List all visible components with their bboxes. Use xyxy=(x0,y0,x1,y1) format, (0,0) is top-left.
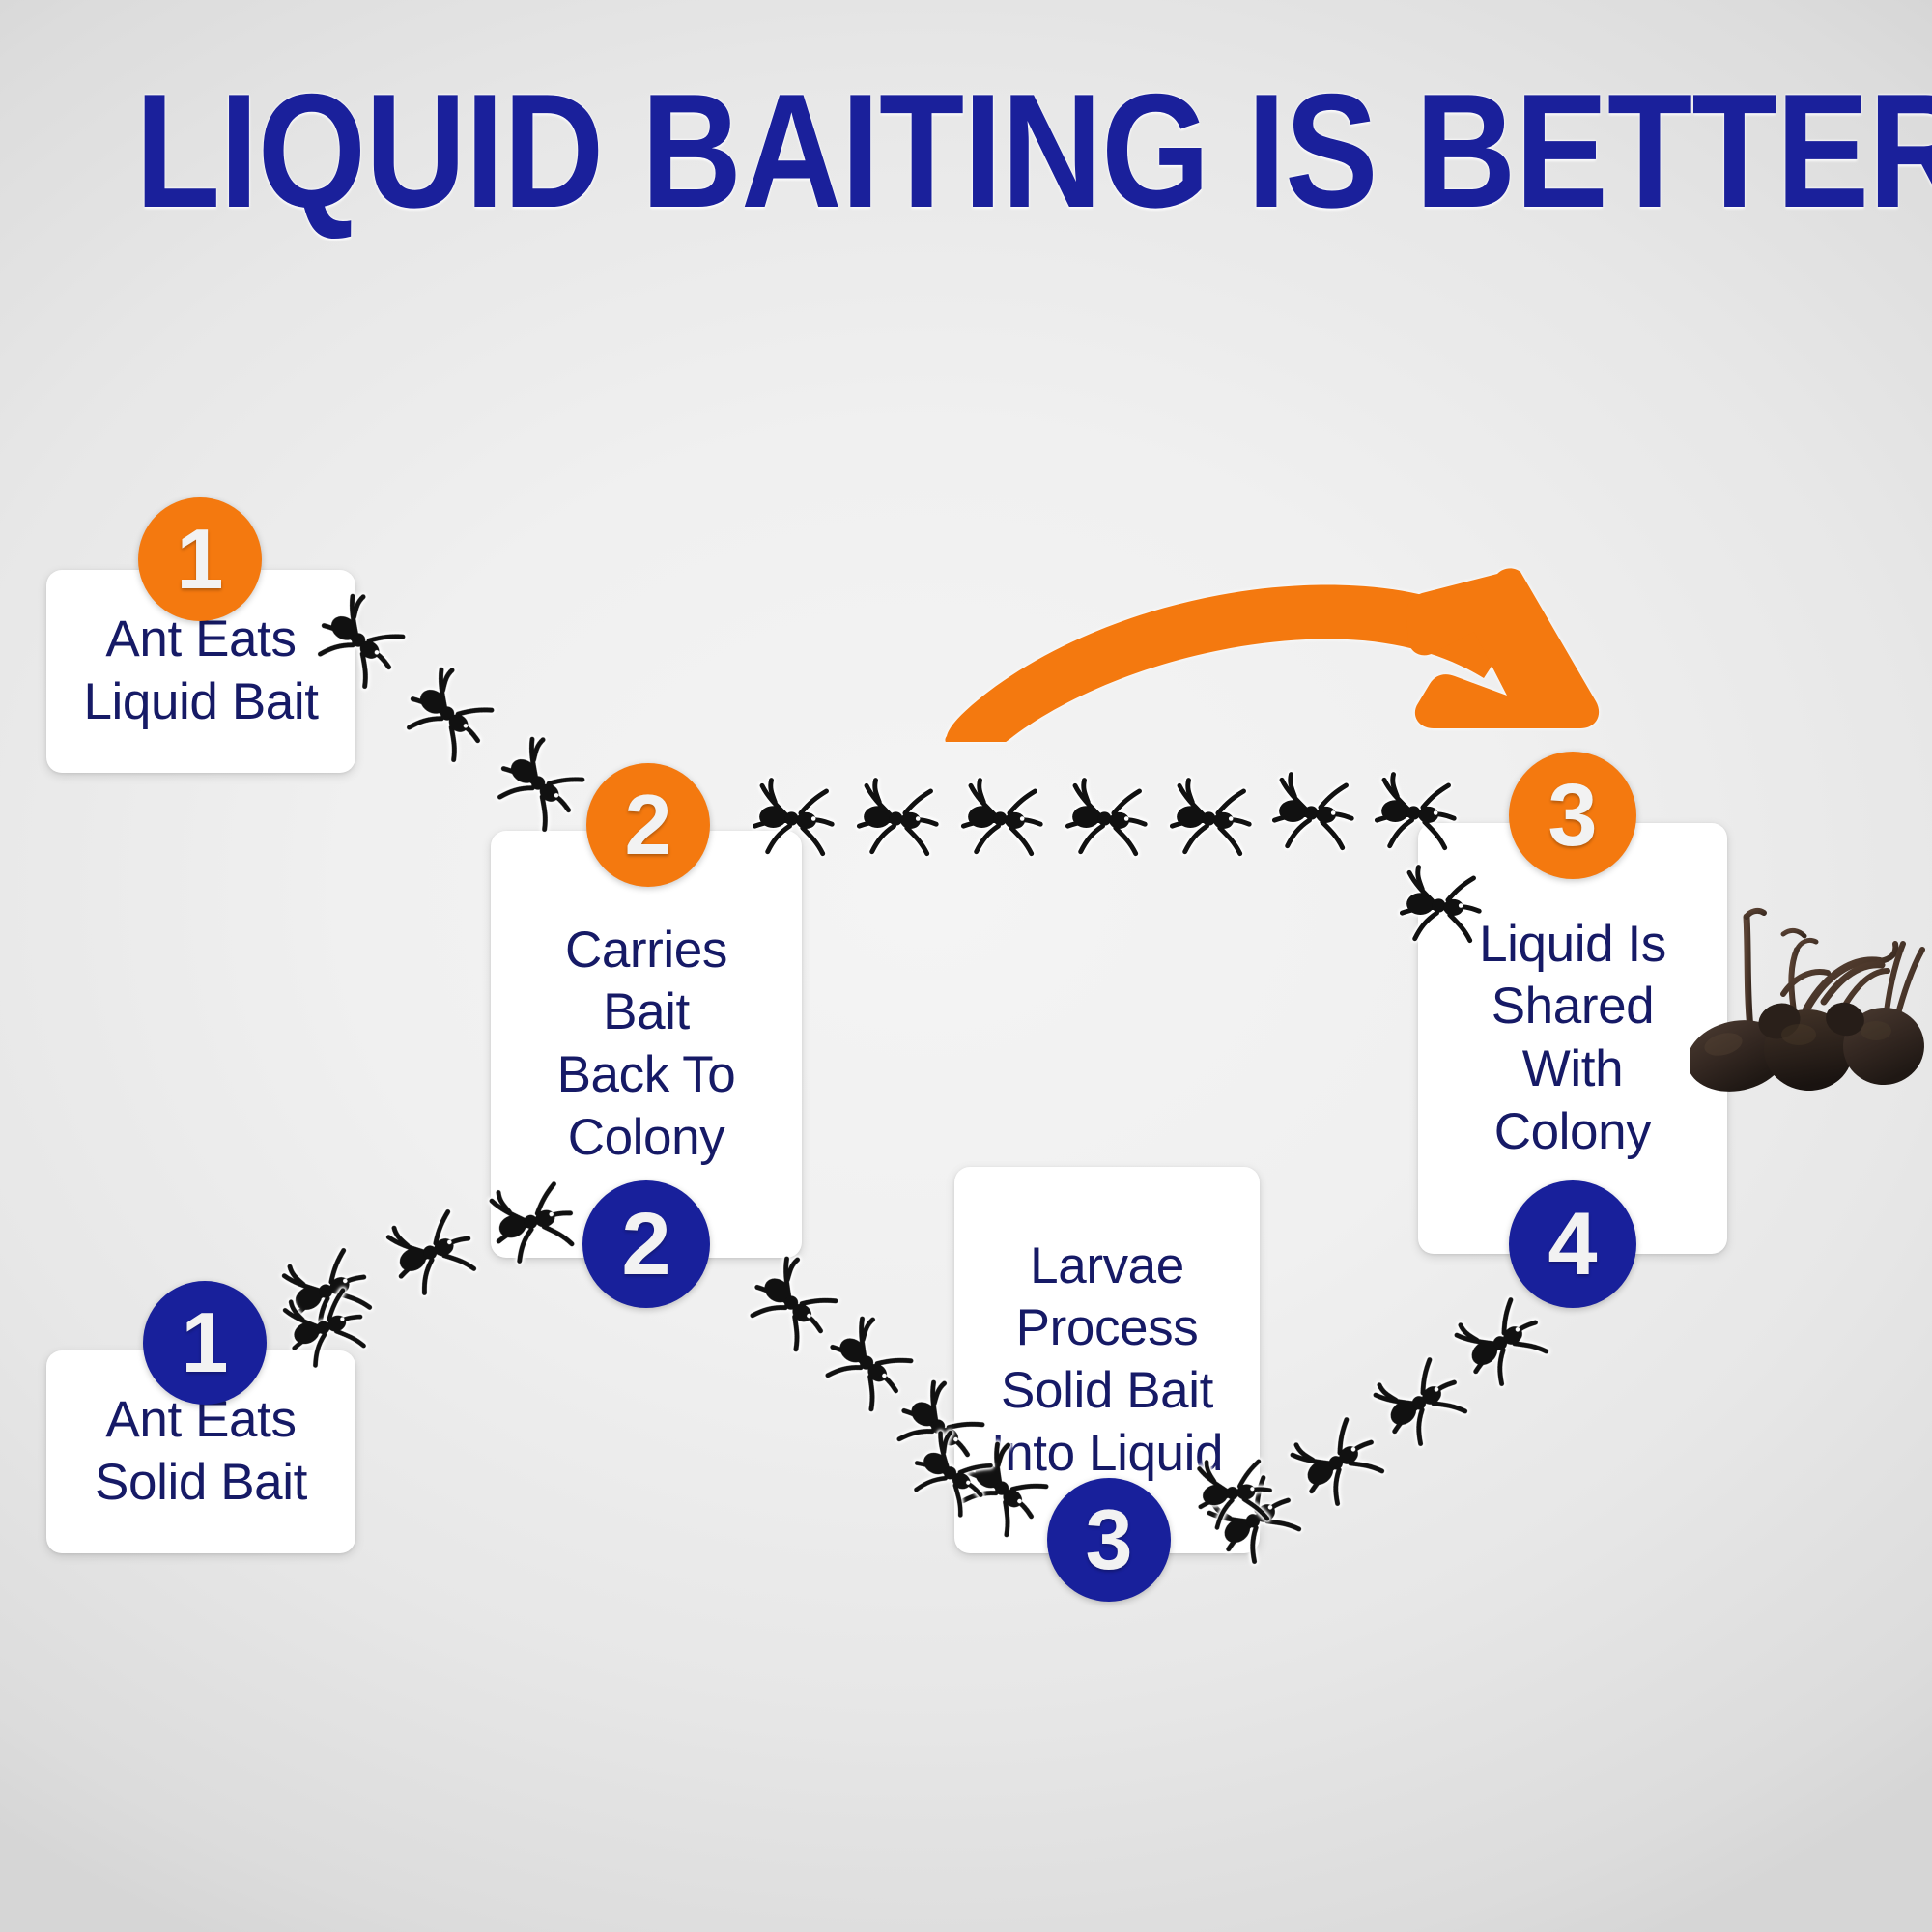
badge-solid-step-4[interactable]: 4 xyxy=(1509,1180,1636,1308)
card-line: Shared xyxy=(1492,976,1655,1038)
card-line: Colony xyxy=(1494,1101,1652,1164)
card-line: Solid Bait xyxy=(1001,1360,1213,1423)
ant-icon xyxy=(366,1191,490,1315)
card-line: Larvae xyxy=(1030,1236,1184,1298)
card-line: With xyxy=(1522,1038,1623,1101)
infographic-canvas: LIQUID BAITING IS BETTER xyxy=(0,0,1932,1932)
card-line: Bait xyxy=(603,981,690,1044)
ant-icon xyxy=(1366,767,1458,859)
card-line: Solid Bait xyxy=(95,1452,307,1515)
ant-icon xyxy=(744,773,836,865)
ant-icon xyxy=(1391,860,1483,952)
ant-photograph xyxy=(1690,874,1932,1116)
card-line: Liquid Bait xyxy=(83,671,318,734)
badge-solid-step-1[interactable]: 1 xyxy=(143,1281,267,1405)
ant-icon xyxy=(952,773,1044,865)
ant-icon xyxy=(383,649,510,777)
card-line: Process xyxy=(1016,1297,1199,1360)
ant-icon xyxy=(1057,773,1149,865)
card-line: Liquid Is xyxy=(1479,914,1666,977)
ant-icon xyxy=(1180,1443,1281,1544)
curved-arrow-right-icon xyxy=(927,529,1604,742)
card-line: Colony xyxy=(568,1107,725,1170)
card-line: Carries xyxy=(565,920,727,982)
badge-liquid-step-2[interactable]: 2 xyxy=(586,763,710,887)
card-line: Back To xyxy=(557,1044,736,1107)
page-title: LIQUID BAITING IS BETTER xyxy=(135,70,1797,232)
badge-solid-step-2[interactable]: 2 xyxy=(582,1180,710,1308)
badge-liquid-step-1[interactable]: 1 xyxy=(138,497,262,621)
ant-icon xyxy=(1161,773,1253,865)
ant-icon xyxy=(1264,767,1355,859)
badge-liquid-step-3[interactable]: 3 xyxy=(1509,752,1636,879)
ant-icon xyxy=(848,773,940,865)
badge-solid-step-3[interactable]: 3 xyxy=(1047,1478,1171,1602)
ant-icon xyxy=(473,719,601,846)
